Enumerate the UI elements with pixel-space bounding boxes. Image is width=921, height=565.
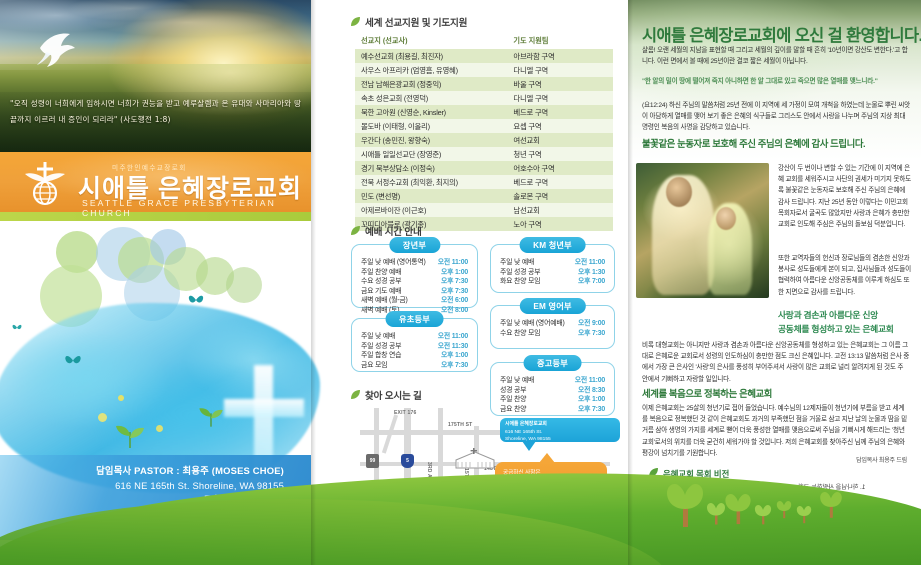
heart-tree-icon [819, 487, 843, 521]
callout-address-1: 616 NE 165th St. [505, 429, 615, 437]
prayer-team: 요셉 구역 [513, 121, 613, 132]
schedule-row: 새벽 예배 (월-금)오전 6:00 [361, 296, 468, 306]
heart-tree-icon [776, 497, 792, 521]
schedule-label: 화요 찬양 모임 [500, 277, 578, 287]
schedule-card-adult: 장년부 주일 낮 예배 (영어통역)오전 11:00주일 찬양 예배오후 1:0… [351, 244, 478, 308]
schedule-time: 오전 11:00 [575, 376, 605, 386]
scripture-quote: "한 알의 밀이 땅에 떨어져 죽지 아니하면 한 알 그대로 있고 죽으면 많… [642, 76, 910, 87]
prayer-team: 바울 구역 [513, 79, 613, 90]
prayer-team: 솔로몬 구역 [513, 191, 613, 202]
mission-field: 몰도바 (이태형, 이올리) [361, 121, 513, 132]
schedule-label: 주일 찬양 예배 [361, 268, 441, 278]
schedule-row: 주일 낮 예배오전 11:00 [361, 332, 468, 342]
table-row: 우간다 (송민진, 왕향숙)여선교회 [355, 133, 613, 147]
heart-tree-icon [754, 501, 772, 527]
logo-bar: 미주한인예수교장로회 시애틀 은혜장로교회 SEATTLE GRACE PRES… [0, 152, 311, 212]
schedule-label: 금요 모임 [361, 361, 441, 371]
heart-tree-icon [724, 489, 752, 527]
card-title: 중고등부 [523, 355, 582, 371]
logo-english-name: SEATTLE GRACE PRESBYTERIAN CHURCH [82, 198, 311, 218]
welcome-title: 시애틀 은혜장로교회에 오신 걸 환영합니다. [642, 22, 912, 46]
route-99-shield: 99 [366, 454, 379, 468]
head-jesus [666, 177, 692, 207]
panel-fold-shadow [311, 0, 316, 565]
prayer-team: 베드로 구역 [513, 177, 613, 188]
table-row: 예수선교회 (최용길, 최진자)아브라함 구역 [355, 49, 613, 63]
schedule-label: 새벽 예배 (월-금) [361, 296, 441, 306]
schedule-time: 오전 11:00 [438, 258, 468, 268]
prayer-team: 노아 구역 [513, 219, 613, 230]
schedule-time: 오후 7:30 [441, 277, 468, 287]
card-title: 장년부 [389, 237, 440, 253]
table-row: 경기 북부상담소 (이정숙)어호수아 구역 [355, 161, 613, 175]
schedule-row: 수요 찬양 모임오후 7:30 [500, 329, 605, 339]
card-title: KM 청년부 [519, 237, 586, 253]
schedule-row: 주일 성경 공부오전 11:30 [361, 342, 468, 352]
prayer-team: 청년 구역 [513, 149, 613, 160]
leaf-bullet-icon [350, 17, 361, 27]
schedule-label: 수요 성경 공부 [361, 277, 441, 287]
schedule-card-em-english: EM 영어부 주일 낮 예배 (영어예배)오전 9:00수요 찬양 모임오후 7… [490, 305, 615, 349]
schedule-row: 금요 기도 예배오후 7:30 [361, 287, 468, 297]
leaf-bullet-icon [350, 390, 361, 400]
table-row: 전남 남해은광교회 (정중익)바울 구역 [355, 77, 613, 91]
intro-paragraph: 샬롬! 오랜 세월의 지남을 표현할 때 그리고 세월의 깊이를 말할 때 흔히… [642, 45, 910, 67]
schedule-time: 오전 8:30 [578, 386, 605, 396]
prayer-team: 다니엘 구역 [513, 65, 613, 76]
church-map-callout[interactable]: 시애틀 은혜장로교회 616 NE 165th St. Shoreline, W… [500, 418, 620, 442]
head-child [716, 207, 736, 230]
missions-section-heading: 세계 선교지원 및 기도지원 [350, 15, 467, 29]
mission-field: 아제르바이잔 (이근호) [361, 205, 513, 216]
prayer-team: 베드로 구역 [513, 107, 613, 118]
butterfly-icon [12, 323, 22, 332]
schedule-label: 주일 낮 예배 (영어예배) [500, 319, 578, 329]
dove-icon [34, 30, 78, 70]
schedule-label: 주일 낮 예배 (영어통역) [361, 258, 438, 268]
schedule-row: 주일 낮 예배 (영어예배)오전 9:00 [500, 319, 605, 329]
heart-tree-icon [665, 479, 705, 529]
heart-tree-icon [706, 499, 726, 527]
prayer-team: 여선교회 [513, 135, 613, 146]
scripture-verse: "오직 성령이 너희에게 임하시면 너희가 권능을 받고 예루살렘과 온 유대와… [10, 96, 308, 128]
mission-field: 사우스 아프리카 (엄영흠, 유영혜) [361, 65, 513, 76]
grass-hill-footer [0, 473, 921, 565]
table-row: 몰도바 (이태형, 이올리)요셉 구역 [355, 119, 613, 133]
schedule-row: 주일 찬양 예배오후 1:00 [361, 268, 468, 278]
schedule-row: 주일 낮 예배오전 11:00 [500, 258, 605, 268]
schedule-label: 주일 낮 예배 [500, 376, 575, 386]
butterfly-icon [188, 293, 204, 307]
table-row: 아제르바이잔 (이근호)남선교회 [355, 203, 613, 217]
schedule-time: 오후 7:30 [441, 287, 468, 297]
heart-tree-icon [796, 503, 812, 525]
schedule-time: 오후 1:00 [441, 351, 468, 361]
schedule-label: 주일 성경 공부 [500, 268, 578, 278]
table-row: 사우스 아프리카 (엄영흠, 유영혜)다니엘 구역 [355, 63, 613, 77]
schedule-label: 수요 찬양 모임 [500, 329, 578, 339]
schedule-row: 금요 모임오후 7:30 [361, 361, 468, 371]
sunrise-photo [0, 0, 311, 152]
schedule-row: 주일 합창 연습오후 1:00 [361, 351, 468, 361]
schedule-time: 오전 11:00 [575, 258, 605, 268]
mission-field: 전북 서정수교회 (최익환, 최지의) [361, 177, 513, 188]
schedule-row: 수요 성경 공부오후 7:30 [361, 277, 468, 287]
schedule-label: 주일 낮 예배 [500, 258, 575, 268]
prayer-team: 아브라함 구역 [513, 51, 613, 62]
prayer-team: 남선교회 [513, 205, 613, 216]
spark [118, 395, 124, 401]
mission-field: 전남 남해은광교회 (정중익) [361, 79, 513, 90]
body-paragraph-1: 강산이 두 번이나 변할 수 있는 기간에 이 지역에 은혜 교회를 세워주시고… [778, 163, 912, 230]
worship-section-heading: 예배 시간 안내 [350, 224, 422, 238]
prayer-team: 어호수아 구역 [513, 163, 613, 174]
missions-table: 선교지 (선교사) 기도 지원팀 예수선교회 (최용길, 최진자)아브라함 구역… [355, 34, 613, 231]
panel-fold-shadow [628, 0, 633, 565]
butterfly-icon [64, 353, 82, 368]
mission-field: 예수선교회 (최용길, 최진자) [361, 51, 513, 62]
schedule-row: 주일 낮 예배오전 11:00 [500, 376, 605, 386]
body-paragraph-3: 비록 대형교회는 아니지만 사랑과 겸손과 아름다운 신앙공동체를 형성하고 있… [642, 340, 910, 385]
missions-table-header: 선교지 (선교사) 기도 지원팀 [355, 34, 613, 49]
card-title: EM 영어부 [519, 298, 585, 314]
col-header-field: 선교지 (선교사) [361, 36, 513, 46]
schedule-label: 금요 기도 예배 [361, 287, 441, 297]
scripture-ref-paragraph: (요12:24) 하신 주님의 말씀처럼 25년 전에 이 지역에 세 가정이 … [642, 100, 910, 134]
interstate-5-shield: 5 [401, 454, 414, 468]
spark [156, 425, 163, 432]
church-building-icon [452, 448, 498, 470]
signature: 담임목사 최용주 드림 [856, 455, 907, 464]
body-paragraph-2: 또한 교역자들의 헌신과 장로님들의 겸손한 신앙과 봉사로 성도들에게 본이 … [778, 253, 912, 298]
card-rows: 주일 낮 예배오전 11:00주일 성경 공부오전 11:30주일 합창 연습오… [352, 319, 477, 377]
schedule-label: 주일 성경 공부 [361, 342, 438, 352]
schedule-row: 주일 성경 공부오후 1:30 [500, 268, 605, 278]
schedule-time: 오후 1:00 [441, 268, 468, 278]
table-row: 전북 서정수교회 (최익환, 최지의)베드로 구역 [355, 175, 613, 189]
schedule-time: 오전 9:00 [578, 319, 605, 329]
table-row: 속초 성은교회 (전영덕)다니엘 구역 [355, 91, 613, 105]
heading-world-gospel: 세계를 복음으로 정복하는 은혜교회 [642, 386, 772, 400]
mission-field: 시애틀 일일선교단 (장영준) [361, 149, 513, 160]
mission-field: 우간다 (송민진, 왕향숙) [361, 135, 513, 146]
table-row: 민도 (변선명)솔로몬 구역 [355, 189, 613, 203]
schedule-time: 오후 7:30 [578, 329, 605, 339]
thanks-line: 불꽃같은 눈동자로 보호해 주신 주님의 은혜에 감사 드립니다. [642, 136, 914, 150]
callout-address-2: Shoreline, WA 98155 [505, 436, 615, 444]
schedule-card-km-youth: KM 청년부 주일 낮 예배오전 11:00주일 성경 공부오후 1:30화요 … [490, 244, 615, 293]
table-row: 북한 고아원 (신영순, Kinsler)베드로 구역 [355, 105, 613, 119]
jesus-with-child-photo [636, 163, 769, 298]
church-logo-icon [22, 160, 68, 206]
schedule-time: 오전 11:30 [438, 342, 468, 352]
schedule-time: 오후 1:30 [578, 268, 605, 278]
schedule-row: 성경 공부오전 8:30 [500, 386, 605, 396]
schedule-time: 오전 6:00 [441, 296, 468, 306]
sprout-icon [112, 420, 148, 448]
mission-field: 민도 (변선명) [361, 191, 513, 202]
spark [98, 413, 107, 422]
schedule-label: 주일 합창 연습 [361, 351, 441, 361]
prayer-team: 다니엘 구역 [513, 93, 613, 104]
schedule-card-children: 유초등부 주일 낮 예배오전 11:00주일 성경 공부오전 11:30주일 합… [351, 318, 478, 372]
map-label-exit176: EXIT 176 [394, 410, 416, 416]
schedule-time: 오후 7:00 [578, 277, 605, 287]
heading-community: 사랑과 겸손과 아름다운 신앙 공동체를 형성하고 있는 은혜교회 [778, 308, 918, 336]
schedule-time: 오전 11:00 [438, 332, 468, 342]
bubble [226, 267, 262, 303]
schedule-row: 화요 찬양 모임오후 7:00 [500, 277, 605, 287]
map-label-175th: 175TH ST [448, 422, 472, 428]
schedule-row: 주일 낮 예배 (영어통역)오전 11:00 [361, 258, 468, 268]
mission-field: 북한 고아원 (신영순, Kinsler) [361, 107, 513, 118]
col-header-team: 기도 지원팀 [513, 36, 613, 46]
leaf-bullet-icon [350, 226, 361, 236]
missions-table-body: 예수선교회 (최용길, 최진자)아브라함 구역사우스 아프리카 (엄영흠, 유영… [355, 49, 613, 231]
callout-church-name: 시애틀 은혜장로교회 [505, 421, 615, 429]
brochure-scan: "오직 성령이 너희에게 임하시면 너희가 권능을 받고 예루살렘과 온 유대와… [0, 0, 921, 565]
body-paragraph-4: 이제 은혜교회는 25살의 청년기로 접어 들었습니다. 예수님의 12제자들이… [642, 403, 910, 459]
table-row: 시애틀 일일선교단 (장영준)청년 구역 [355, 147, 613, 161]
schedule-label: 주일 낮 예배 [361, 332, 438, 342]
schedule-time: 오후 7:30 [441, 361, 468, 371]
schedule-time: 오전 8:00 [441, 306, 468, 316]
mission-field: 경기 북부상담소 (이정숙) [361, 163, 513, 174]
card-title: 유초등부 [385, 311, 444, 327]
mission-field: 속초 성은교회 (전영덕) [361, 93, 513, 104]
sprout-icon [196, 403, 226, 427]
road-175th [360, 430, 500, 435]
schedule-label: 성경 공부 [500, 386, 578, 396]
